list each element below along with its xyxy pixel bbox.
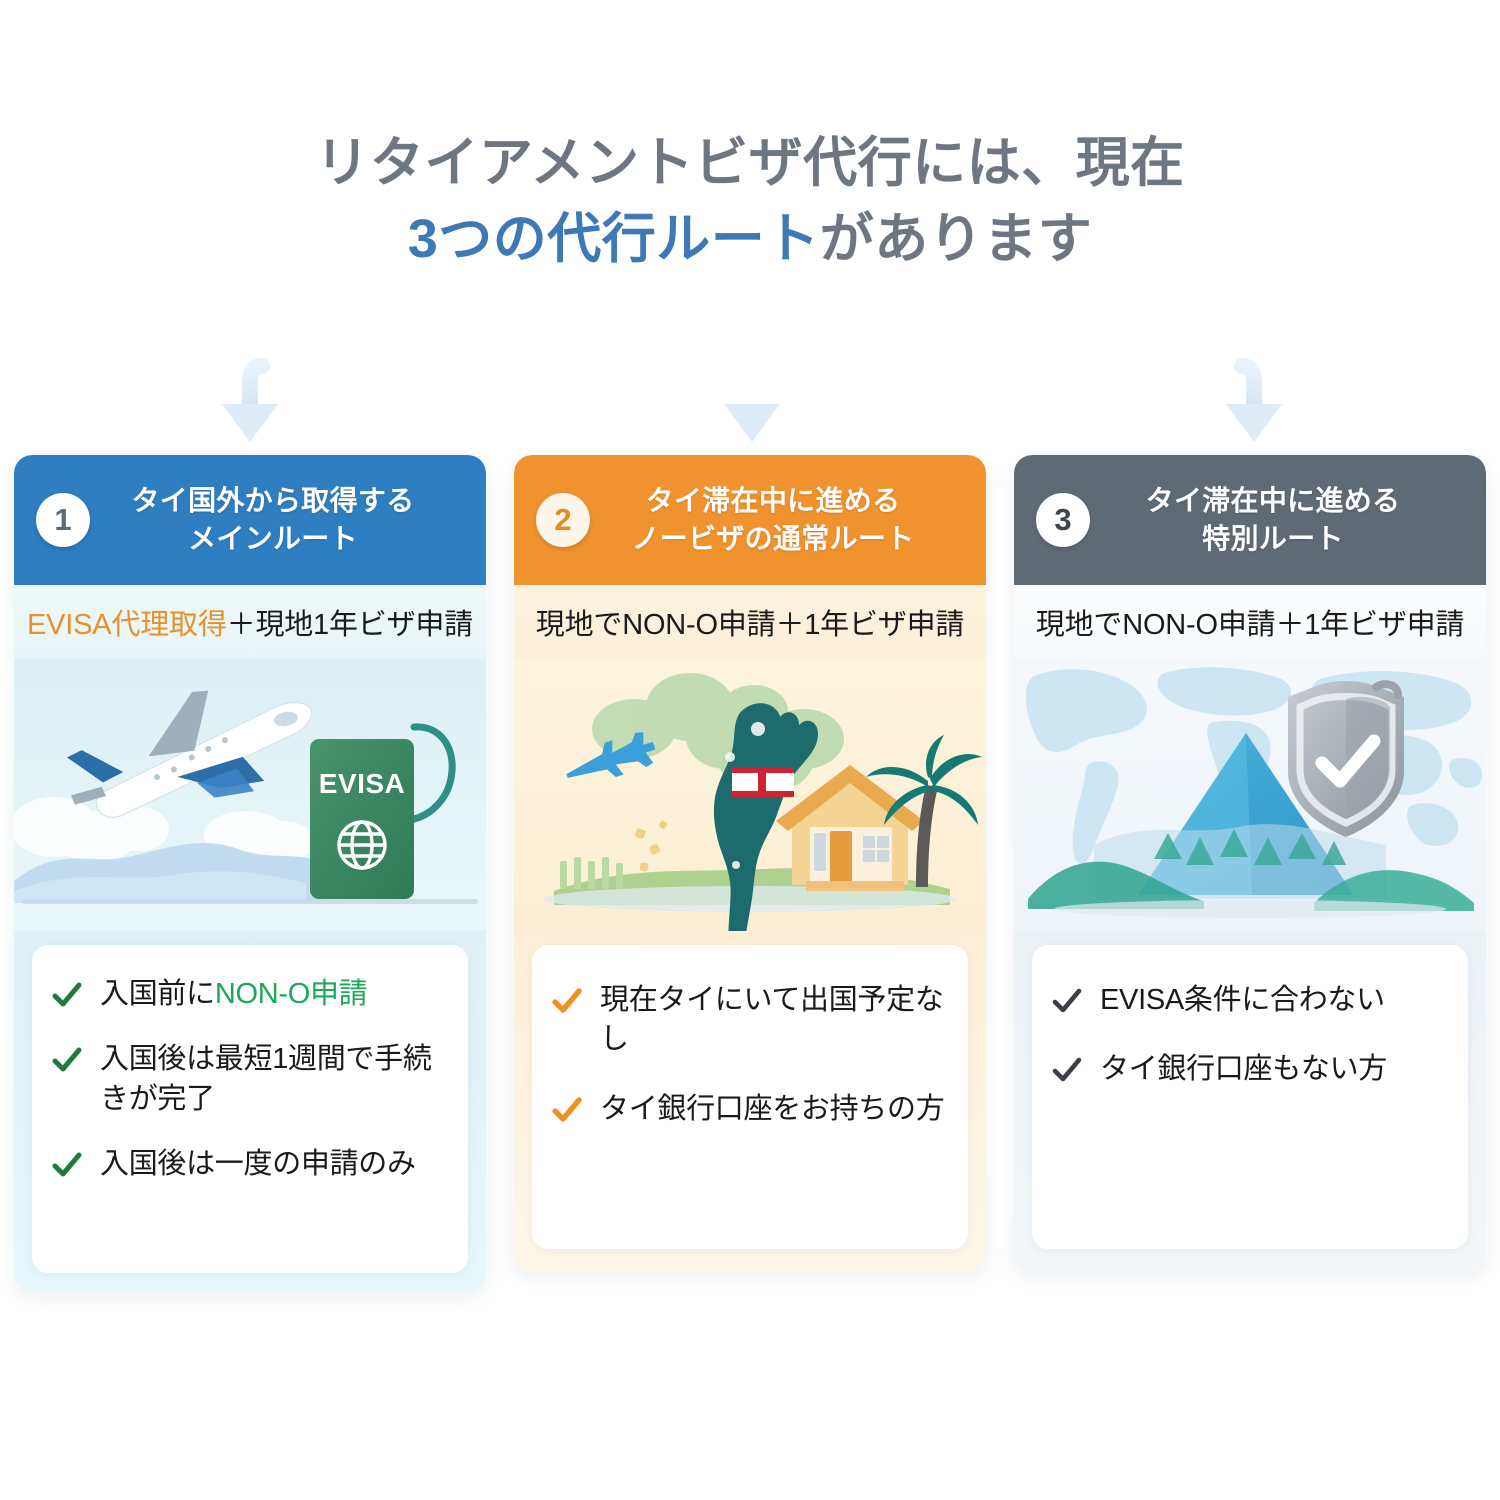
card-3-title-line-1: タイ滞在中に進める [1090, 482, 1456, 520]
title-accent-text: 3つの代行ルート [408, 209, 820, 269]
check-icon [550, 1093, 584, 1127]
card-2-bullet-2-text: タイ銀行口座をお持ちの方 [600, 1090, 944, 1129]
card-3-bullet-2: タイ銀行口座もない方 [1050, 1050, 1450, 1089]
route-card-3[interactable]: 3 タイ滞在中に進める 特別ルート 現地でNON-O申請＋1年ビザ申請 [1014, 455, 1486, 1271]
check-icon [50, 1148, 84, 1182]
card-3-illustration [1014, 659, 1486, 931]
route-card-1[interactable]: 1 タイ国外から取得する メインルート EVISA代理取得＋現地1年ビザ申請 [14, 455, 486, 1291]
card-1-header: 1 タイ国外から取得する メインルート [14, 455, 486, 585]
card-2-bullet-1-text: 現在タイにいて出国予定なし [600, 981, 950, 1060]
card-1-title: タイ国外から取得する メインルート [90, 482, 470, 558]
thailand-flag-icon [732, 767, 794, 797]
card-2-title: タイ滞在中に進める ノービザの通常ルート [590, 482, 970, 558]
card-2-bullet-2: タイ銀行口座をお持ちの方 [550, 1090, 950, 1129]
card-1-bullet-1-plain: 入国前に [100, 978, 215, 1010]
card-3-bullet-2-text: タイ銀行口座もない方 [1100, 1050, 1387, 1089]
card-1-subtitle: EVISA代理取得＋現地1年ビザ申請 [14, 585, 486, 659]
card-2-header: 2 タイ滞在中に進める ノービザの通常ルート [514, 455, 986, 585]
card-3-header: 3 タイ滞在中に進める 特別ルート [1014, 455, 1486, 585]
card-1-illustration: EVISA [14, 659, 486, 931]
card-1-title-line-2: メインルート [90, 520, 456, 558]
title-line-1: リタイアメントビザ代行には、現在 [0, 128, 1500, 198]
card-2-bullet-1: 現在タイにいて出国予定なし [550, 981, 950, 1060]
card-1-bullet-3-text: 入国後は一度の申請のみ [100, 1145, 416, 1184]
route-card-2[interactable]: 2 タイ滞在中に進める ノービザの通常ルート 現地でNON-O申請＋1年ビザ申請 [514, 455, 986, 1271]
card-2-subtitle-tail: 現地でNON-O申請＋1年ビザ申請 [536, 601, 964, 643]
card-3-subtitle: 現地でNON-O申請＋1年ビザ申請 [1014, 585, 1486, 659]
card-1-number-badge: 1 [36, 493, 90, 547]
check-icon [50, 978, 84, 1012]
card-1-bullet-2-text: 入国後は最短1週間で手続きが完了 [100, 1040, 450, 1119]
card-2-title-line-1: タイ滞在中に進める [590, 482, 956, 520]
card-2-title-line-2: ノービザの通常ルート [590, 520, 956, 558]
card-3-bullets: EVISA条件に合わない タイ銀行口座もない方 [1032, 945, 1468, 1249]
card-3-bullet-1: EVISA条件に合わない [1050, 981, 1450, 1020]
connector-arrows [0, 308, 1500, 458]
card-1-bullets: 入国前にNON-O申請 入国後は最短1週間で手続きが完了 入国後は一度の申請のみ [32, 945, 468, 1273]
check-icon [550, 984, 584, 1018]
card-1-bullet-1: 入国前にNON-O申請 [50, 975, 450, 1014]
card-1-title-line-1: タイ国外から取得する [90, 482, 456, 520]
card-1-bullet-2: 入国後は最短1週間で手続きが完了 [50, 1040, 450, 1119]
card-3-title-line-2: 特別ルート [1090, 520, 1456, 558]
card-2-number-badge: 2 [536, 493, 590, 547]
card-2-subtitle: 現地でNON-O申請＋1年ビザ申請 [514, 585, 986, 659]
title-tail-text: があります [820, 209, 1093, 269]
card-2-illustration [514, 659, 986, 931]
route-cards: 1 タイ国外から取得する メインルート EVISA代理取得＋現地1年ビザ申請 [0, 455, 1500, 1291]
card-1-bullet-1-text: 入国前にNON-O申請 [100, 975, 367, 1014]
check-icon [1050, 1053, 1084, 1087]
check-icon [50, 1043, 84, 1077]
card-1-bullet-3: 入国後は一度の申請のみ [50, 1145, 450, 1184]
card-2-bullets: 現在タイにいて出国予定なし タイ銀行口座をお持ちの方 [532, 945, 968, 1249]
evisa-label: EVISA [319, 768, 406, 799]
card-3-number-badge: 3 [1036, 493, 1090, 547]
arrow-heads [222, 404, 1282, 442]
check-icon [1050, 984, 1084, 1018]
card-1-subtitle-tail: ＋現地1年ビザ申請 [227, 601, 473, 643]
card-3-title: タイ滞在中に進める 特別ルート [1090, 482, 1470, 558]
card-1-subtitle-accent: EVISA代理取得 [27, 601, 227, 643]
card-3-bullet-1-text: EVISA条件に合わない [1100, 981, 1385, 1020]
page-title: リタイアメントビザ代行には、現在 3つの代行ルートがあります [0, 128, 1500, 274]
card-1-bullet-1-accent: NON-O申請 [215, 978, 368, 1010]
card-3-subtitle-tail: 現地でNON-O申請＋1年ビザ申請 [1036, 601, 1464, 643]
title-line-2: 3つの代行ルートがあります [0, 204, 1500, 274]
